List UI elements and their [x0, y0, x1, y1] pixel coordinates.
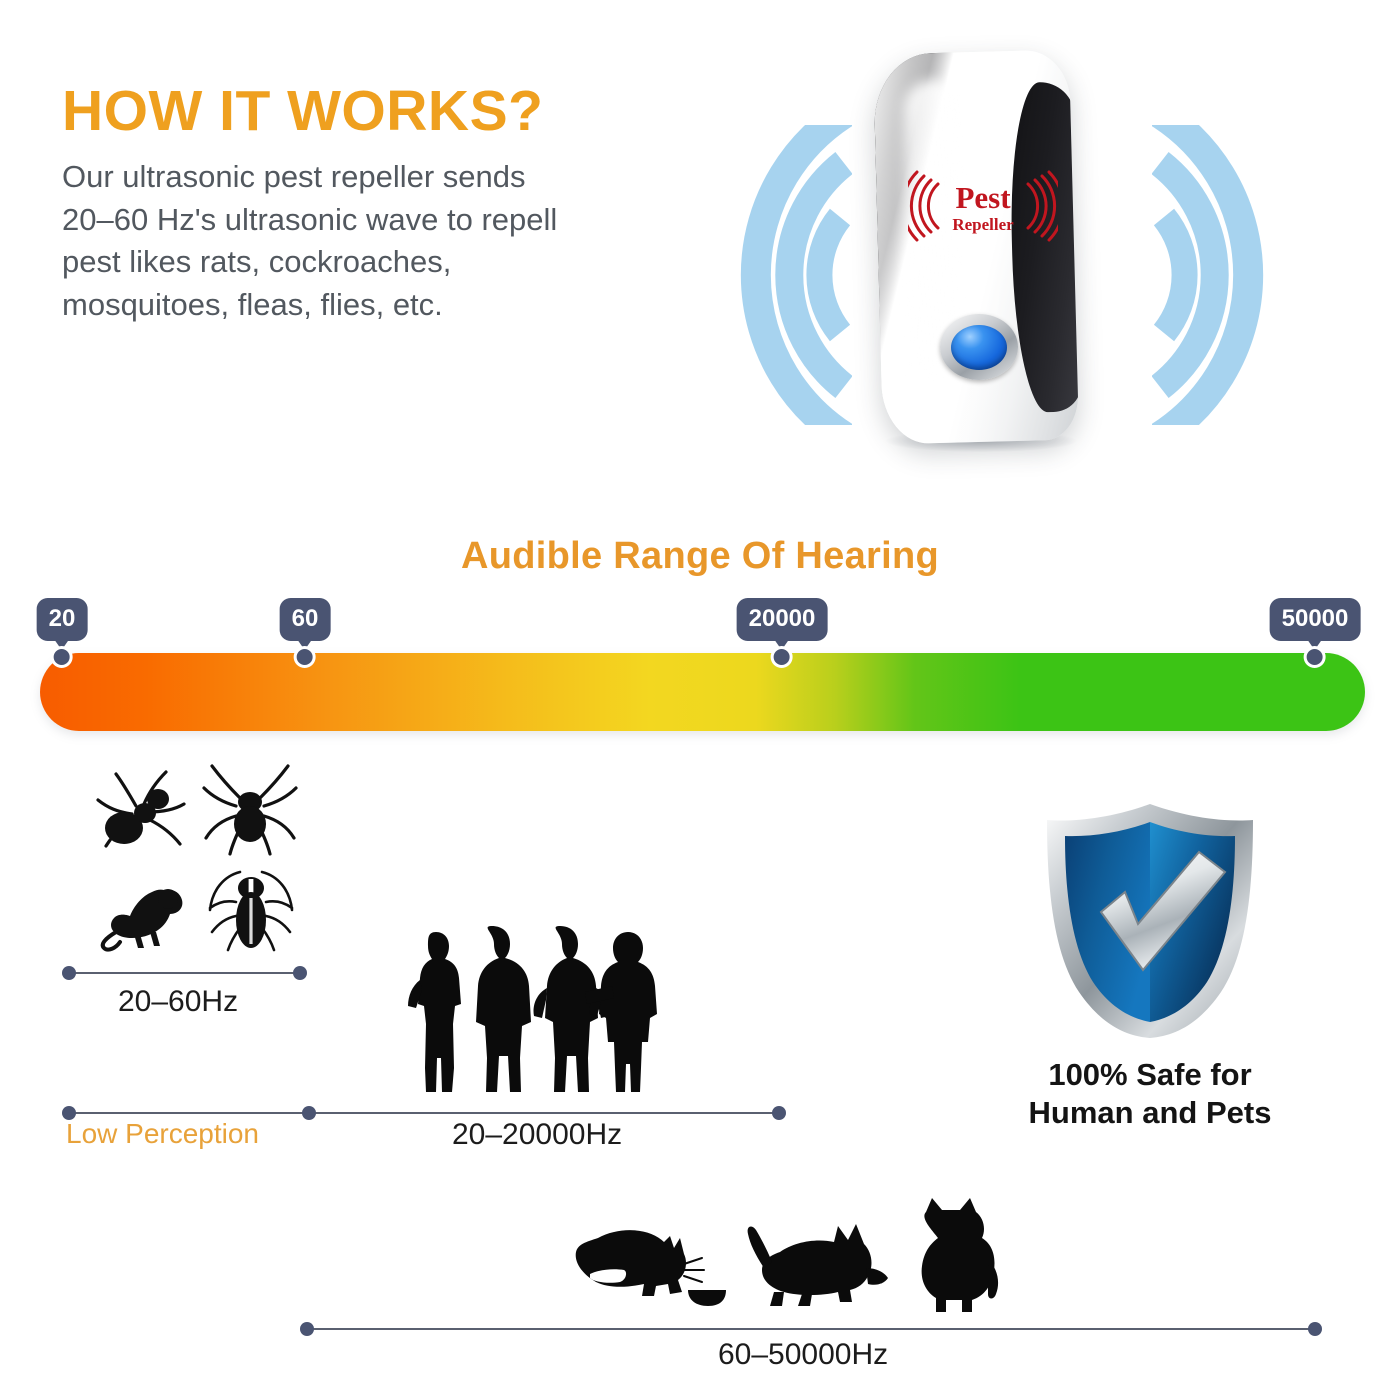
device-led-indicator: [951, 325, 1007, 370]
marker-label: 50000: [1270, 598, 1361, 641]
marker-label: 20: [37, 598, 88, 641]
how-it-works-section: HOW IT WORKS? Our ultrasonic pest repell…: [62, 82, 662, 327]
spectrum-gradient-bar: [40, 653, 1365, 731]
svg-text:Pest: Pest: [955, 180, 1011, 215]
range-rule: [68, 972, 301, 974]
low-perception-label: Low Perception: [66, 1118, 259, 1150]
sound-wave-right-icon: [1152, 125, 1332, 425]
ant-icon: [88, 762, 196, 862]
device-illustration: Pest Repeller: [660, 30, 1340, 510]
svg-text:Repeller: Repeller: [952, 215, 1014, 234]
pest-range-line: [62, 966, 307, 980]
safety-caption-line2: Human and Pets: [985, 1094, 1315, 1132]
cat-standing-icon: [908, 1196, 1002, 1314]
human-range-label: 20–20000Hz: [452, 1118, 622, 1152]
marker-dot-icon: [294, 646, 316, 668]
marker-dot-icon: [1304, 646, 1326, 668]
safety-badge: 100% Safe for Human and Pets: [985, 800, 1315, 1132]
spectrum-marker-50000: 50000: [1270, 598, 1361, 668]
pest-repeller-device: Pest Repeller: [878, 52, 1074, 442]
marker-dot-icon: [771, 646, 793, 668]
spectrum-marker-20000: 20000: [737, 598, 828, 668]
range-endpoint-dot: [300, 1322, 314, 1336]
range-rule: [68, 1112, 780, 1114]
pest-icon-group: [80, 762, 340, 957]
range-endpoint-dot: [62, 966, 76, 980]
mouse-icon: [94, 862, 194, 954]
cockroach-icon: [202, 858, 300, 954]
spider-icon: [200, 762, 300, 857]
marker-label: 60: [280, 598, 331, 641]
safety-caption: 100% Safe for Human and Pets: [985, 1056, 1315, 1132]
marker-dot-icon: [51, 646, 73, 668]
spectrum-title: Audible Range Of Hearing: [0, 535, 1400, 578]
device-power-button[interactable]: [940, 314, 1018, 380]
intro-paragraph: Our ultrasonic pest repeller sends 20–60…: [62, 156, 582, 327]
marker-label: 20000: [737, 598, 828, 641]
pest-range-label: 20–60Hz: [118, 985, 238, 1019]
range-endpoint-dot: [772, 1106, 786, 1120]
page-title: HOW IT WORKS?: [62, 82, 662, 142]
range-endpoint-dot: [293, 966, 307, 980]
range-rule: [306, 1328, 1316, 1330]
cat-eating-icon: [560, 1218, 730, 1314]
dog-lying-icon: [742, 1212, 892, 1314]
safety-caption-line1: 100% Safe for: [985, 1056, 1315, 1094]
device-shell: [873, 50, 1079, 445]
range-endpoint-dot: [1308, 1322, 1322, 1336]
range-divider-dot: [302, 1106, 316, 1120]
shield-check-icon: [1039, 800, 1261, 1040]
audible-range-spectrum: 20 60 20000 50000: [0, 598, 1400, 748]
pest-repeller-logo-icon: Pest Repeller: [908, 170, 1058, 242]
spectrum-marker-20: 20: [37, 598, 88, 668]
pets-range-label: 60–50000Hz: [718, 1338, 888, 1372]
spectrum-marker-60: 60: [280, 598, 331, 668]
pets-range-line: [300, 1322, 1322, 1336]
people-silhouette-icon: [400, 918, 672, 1096]
pets-icon-group: [560, 1196, 1000, 1316]
sound-wave-left-icon: [672, 125, 852, 425]
